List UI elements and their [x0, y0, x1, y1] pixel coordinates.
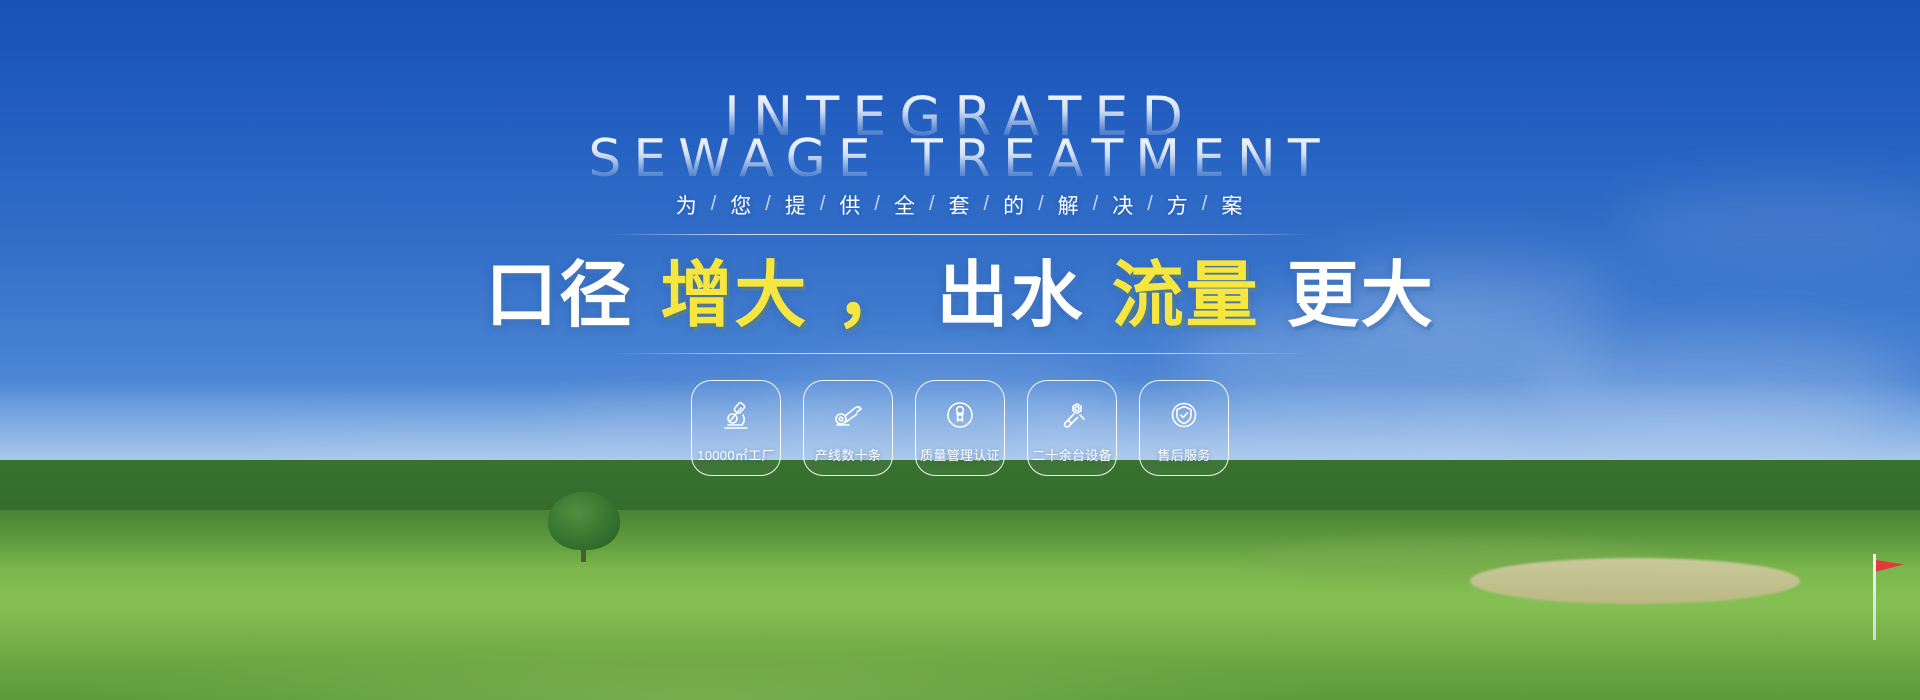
subtitle-separator: /	[874, 193, 882, 216]
subtitle-char: 方	[1155, 190, 1202, 220]
feature-badge-label: 10000㎡工厂	[697, 445, 775, 464]
hero-banner: INTEGRATED SEWAGE TREATMENT 为 / 您 / 提 / …	[0, 0, 1920, 700]
feature-badge-label: 产线数十条	[815, 445, 882, 464]
feature-badge-after-sales[interactable]: 售后服务	[1139, 380, 1229, 476]
headline-part: 流量	[1112, 253, 1260, 337]
subtitle-char: 您	[718, 190, 765, 220]
subtitle-char: 案	[1209, 190, 1256, 220]
feature-badge-label: 二十余台设备	[1032, 445, 1112, 464]
subtitle-separator: /	[820, 193, 828, 216]
banner-content: INTEGRATED SEWAGE TREATMENT 为 / 您 / 提 / …	[0, 0, 1920, 700]
equipment-tools-icon	[1052, 395, 1092, 435]
subtitle-separator: /	[1093, 193, 1101, 216]
subtitle-separator: /	[1038, 193, 1046, 216]
subtitle-separator: /	[1202, 193, 1210, 216]
production-line-icon	[828, 395, 868, 435]
subtitle-char: 的	[991, 190, 1038, 220]
subtitle-char: 全	[882, 190, 929, 220]
divider-top	[610, 234, 1310, 235]
feature-badge-list: 10000㎡工厂 产线数十条	[691, 380, 1229, 476]
feature-badge-factory[interactable]: 10000㎡工厂	[691, 380, 781, 476]
headline-part: 增大	[660, 253, 808, 337]
headline-part: 出水	[937, 253, 1085, 337]
subtitle-separator: /	[984, 193, 992, 216]
feature-badge-label: 售后服务	[1157, 445, 1210, 464]
shield-check-icon	[1164, 395, 1204, 435]
subtitle-separator: /	[1147, 193, 1155, 216]
microscope-icon	[716, 395, 756, 435]
subtitle-separator: /	[765, 193, 773, 216]
feature-badge-label: 质量管理认证	[920, 445, 1000, 464]
feature-badge-certification[interactable]: 质量管理认证	[915, 380, 1005, 476]
subtitle-char: 为	[664, 190, 711, 220]
english-heading-line2: SEWAGE TREATMENT	[588, 136, 1331, 184]
subtitle-char: 套	[937, 190, 984, 220]
feature-badge-equipment[interactable]: 二十余台设备	[1027, 380, 1117, 476]
certification-badge-icon	[940, 395, 980, 435]
subtitle-char: 解	[1046, 190, 1093, 220]
headline-part: 口径	[485, 253, 633, 337]
subtitle-row: 为 / 您 / 提 / 供 / 全 / 套 / 的 / 解 / 决 / 方 / …	[664, 190, 1257, 220]
subtitle-char: 提	[773, 190, 820, 220]
subtitle-separator: /	[929, 193, 937, 216]
headline-part: 更大	[1287, 253, 1435, 337]
subtitle-separator: /	[711, 193, 719, 216]
divider-bottom	[610, 353, 1310, 354]
subtitle-char: 决	[1100, 190, 1147, 220]
headline: 口径 增大 ， 出水 流量 更大	[485, 255, 1434, 336]
feature-badge-production-line[interactable]: 产线数十条	[803, 380, 893, 476]
english-heading-group: INTEGRATED SEWAGE TREATMENT	[588, 92, 1331, 184]
headline-part: ，	[835, 253, 909, 337]
subtitle-char: 供	[827, 190, 874, 220]
